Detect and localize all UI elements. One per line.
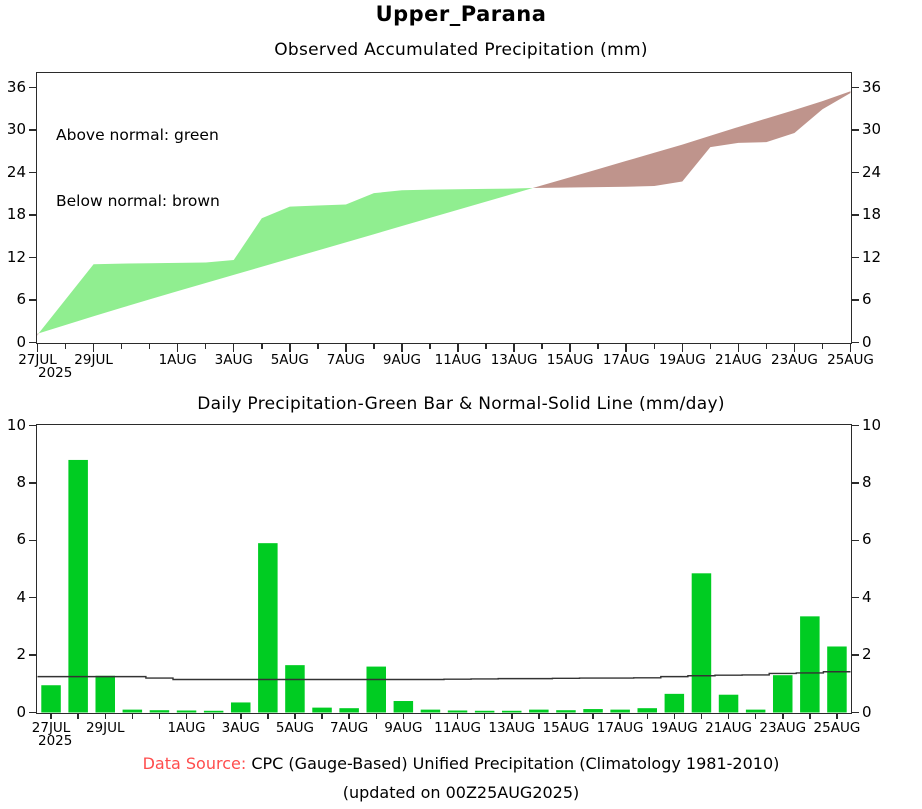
top-xtick-label: 17AUG (603, 352, 650, 368)
daily-precip-bar (827, 646, 847, 712)
below-normal-area (533, 91, 851, 188)
daily-precip-bar (394, 701, 414, 712)
bottom-ytick-label-right: 6 (862, 530, 872, 548)
top-xtick-label: 11AUG (435, 352, 482, 368)
top-xtick (401, 344, 403, 352)
top-xtick-label: 25AUG (827, 352, 874, 368)
bottom-xtick-label: 11AUG (434, 720, 481, 736)
top-ytick-label-right: 0 (862, 333, 872, 351)
top-xtick-label: 19AUG (659, 352, 706, 368)
top-ytick-label-left: 0 (0, 333, 26, 351)
bottom-xtick-label: 7AUG (330, 720, 368, 736)
bottom-xtick-label: 19AUG (651, 720, 698, 736)
top-chart-year-label: 2025 (38, 365, 72, 381)
bottom-xtick-label: 21AUG (705, 720, 752, 736)
top-ytick-label-left: 24 (0, 163, 26, 181)
top-xtick (457, 344, 459, 352)
top-xtick (569, 344, 571, 352)
top-xtick (794, 344, 796, 352)
top-ytick-right (852, 214, 859, 216)
bottom-ytick-label-left: 2 (0, 645, 26, 663)
top-ytick-label-right: 24 (862, 163, 881, 181)
bottom-xtick (105, 714, 107, 719)
bottom-xtick (403, 714, 405, 719)
daily-precip-bar (610, 710, 630, 713)
bottom-ytick-label-right: 0 (862, 703, 872, 721)
daily-precip-bar (339, 708, 359, 712)
bottom-xtick-label: 5AUG (276, 720, 314, 736)
top-chart-title: Observed Accumulated Precipitation (mm) (0, 40, 922, 60)
bottom-xtick (294, 714, 296, 719)
top-xtick-label: 3AUG (215, 352, 253, 368)
top-xtick (205, 344, 207, 349)
bottom-xtick-label: 1AUG (167, 720, 205, 736)
top-ytick-label-right: 30 (862, 120, 881, 138)
top-xtick (682, 344, 684, 352)
daily-precip-bar (692, 573, 712, 712)
daily-precip-bar (150, 710, 170, 712)
top-xtick (513, 344, 515, 352)
daily-precip-bar (529, 710, 549, 713)
top-ytick-left (29, 129, 36, 131)
bottom-ytick-label-left: 6 (0, 530, 26, 548)
daily-precip-bar (583, 709, 603, 712)
bottom-ytick-right (852, 540, 859, 542)
top-xtick (597, 344, 599, 349)
top-xtick-label: 23AUG (771, 352, 818, 368)
top-xtick (317, 344, 319, 349)
bottom-xtick (159, 714, 161, 719)
bottom-xtick (348, 714, 350, 719)
daily-precip-bar (746, 710, 766, 713)
daily-precip-bar (204, 711, 224, 713)
top-xtick (177, 344, 179, 352)
daily-precip-bar (258, 543, 278, 712)
daily-precip-bar (475, 711, 495, 713)
top-xtick-label: 7AUG (327, 352, 365, 368)
bottom-xtick-label: 17AUG (597, 720, 644, 736)
bottom-xtick (376, 714, 378, 719)
bottom-xtick (701, 714, 703, 719)
bottom-xtick (240, 714, 242, 719)
top-xtick (625, 344, 627, 352)
bottom-ytick-label-right: 8 (862, 473, 872, 491)
daily-precip-bar (448, 710, 468, 712)
bottom-ytick-left (29, 597, 36, 599)
bottom-xtick (511, 714, 513, 719)
bottom-xtick (132, 714, 134, 719)
bottom-xtick (619, 714, 621, 719)
bottom-xtick (538, 714, 540, 719)
top-xtick-label: 9AUG (383, 352, 421, 368)
top-xtick (738, 344, 740, 352)
top-xtick-label: 21AUG (715, 352, 762, 368)
bottom-ytick-right (852, 482, 859, 484)
bottom-ytick-right (852, 654, 859, 656)
daily-precip-bars-svg (36, 424, 852, 714)
top-xtick (766, 344, 768, 349)
daily-precip-bar (773, 675, 793, 712)
bottom-chart-year-label: 2025 (38, 733, 72, 749)
daily-precip-bar (123, 710, 143, 713)
top-ytick-right (852, 172, 859, 174)
normal-precip-line (38, 672, 851, 680)
data-source-label: Data Source: (143, 754, 247, 773)
top-ytick-left (29, 257, 36, 259)
bottom-ytick-left (29, 540, 36, 542)
bottom-xtick (755, 714, 757, 719)
daily-precip-bar (312, 708, 332, 713)
bottom-xtick (186, 714, 188, 719)
top-ytick-label-right: 12 (862, 248, 881, 266)
top-ytick-label-right: 6 (862, 290, 872, 308)
top-ytick-right (852, 87, 859, 89)
top-ytick-label-left: 36 (0, 78, 26, 96)
daily-precip-bar (41, 685, 61, 712)
top-ytick-left (29, 214, 36, 216)
bottom-xtick (647, 714, 649, 719)
bottom-ytick-label-right: 10 (862, 416, 881, 434)
top-xtick (850, 344, 852, 352)
top-xtick (822, 344, 824, 349)
top-ytick-label-right: 36 (862, 78, 881, 96)
bottom-ytick-left (29, 712, 36, 714)
daily-precip-bar (68, 460, 88, 713)
below-normal-area (38, 333, 39, 335)
bottom-xtick-label: 25AUG (814, 720, 861, 736)
top-xtick (233, 344, 235, 352)
bottom-xtick (457, 714, 459, 719)
daily-precip-bar (800, 616, 820, 712)
bottom-xtick (484, 714, 486, 719)
precipitation-report: Upper_Parana Observed Accumulated Precip… (0, 0, 922, 809)
top-ytick-right (852, 129, 859, 131)
top-xtick-label: 1AUG (159, 352, 197, 368)
bottom-ytick-right (852, 425, 859, 427)
page-title: Upper_Parana (0, 2, 922, 26)
bottom-xtick (50, 714, 52, 719)
data-source-text: CPC (Gauge-Based) Unified Precipitation … (251, 754, 779, 773)
top-ytick-label-left: 12 (0, 248, 26, 266)
bottom-xtick (267, 714, 269, 719)
data-source-line: Data Source: CPC (Gauge-Based) Unified P… (0, 754, 922, 773)
top-xtick (289, 344, 291, 352)
top-xtick-label: 29JUL (74, 352, 113, 368)
top-xtick (429, 344, 431, 349)
bottom-xtick (782, 714, 784, 719)
legend-line-below: Below normal: brown (56, 190, 220, 212)
top-ytick-left (29, 172, 36, 174)
daily-precip-bar (177, 710, 197, 712)
daily-precip-bar (719, 695, 739, 713)
bottom-xtick-label: 15AUG (543, 720, 590, 736)
bottom-xtick (809, 714, 811, 719)
top-xtick (373, 344, 375, 349)
daily-precip-bar (665, 694, 685, 713)
bottom-ytick-label-left: 0 (0, 703, 26, 721)
top-ytick-right (852, 299, 859, 301)
bottom-ytick-label-right: 2 (862, 645, 872, 663)
daily-precip-bar (556, 710, 576, 712)
bottom-ytick-label-right: 4 (862, 588, 872, 606)
bottom-ytick-label-left: 10 (0, 416, 26, 434)
top-xtick (121, 344, 123, 349)
top-xtick (485, 344, 487, 349)
bottom-ytick-label-left: 4 (0, 588, 26, 606)
bottom-xtick (321, 714, 323, 719)
top-xtick (149, 344, 151, 349)
top-xtick (345, 344, 347, 352)
bottom-xtick (674, 714, 676, 719)
bottom-xtick (77, 714, 79, 719)
daily-precip-bar (502, 711, 522, 713)
bottom-xtick-label: 3AUG (222, 720, 260, 736)
top-xtick-label: 15AUG (547, 352, 594, 368)
bottom-xtick-label: 9AUG (384, 720, 422, 736)
bottom-xtick (565, 714, 567, 719)
top-xtick (37, 344, 39, 352)
top-xtick (541, 344, 543, 349)
daily-precip-bar (231, 702, 251, 712)
daily-precip-bar (366, 667, 386, 713)
bottom-xtick (592, 714, 594, 719)
daily-precip-bar (285, 665, 305, 712)
bottom-xtick (836, 714, 838, 719)
top-ytick-right (852, 342, 859, 344)
top-ytick-label-right: 18 (862, 205, 881, 223)
top-xtick (710, 344, 712, 349)
top-xtick-label: 13AUG (491, 352, 538, 368)
top-xtick-label: 5AUG (271, 352, 309, 368)
top-ytick-left (29, 342, 36, 344)
bottom-xtick-label: 13AUG (488, 720, 535, 736)
top-ytick-right (852, 257, 859, 259)
bottom-ytick-right (852, 712, 859, 714)
bottom-xtick-label: 29JUL (86, 720, 125, 736)
bottom-ytick-right (852, 597, 859, 599)
top-ytick-label-left: 6 (0, 290, 26, 308)
top-xtick (93, 344, 95, 352)
top-xtick (654, 344, 656, 349)
top-ytick-label-left: 30 (0, 120, 26, 138)
daily-precip-bar (421, 710, 441, 713)
legend-line-above: Above normal: green (56, 124, 220, 146)
top-ytick-label-left: 18 (0, 205, 26, 223)
bottom-ytick-left (29, 482, 36, 484)
top-ytick-left (29, 87, 36, 89)
bottom-chart-title: Daily Precipitation-Green Bar & Normal-S… (0, 394, 922, 414)
top-xtick (261, 344, 263, 349)
daily-precip-bar (95, 676, 115, 713)
bottom-xtick (430, 714, 432, 719)
bottom-ytick-left (29, 425, 36, 427)
top-chart-legend: Above normal: green Below normal: brown (56, 80, 220, 256)
bottom-ytick-left (29, 654, 36, 656)
top-xtick (65, 344, 67, 349)
bottom-xtick-label: 23AUG (759, 720, 806, 736)
daily-precip-bar (637, 708, 657, 712)
bottom-xtick (213, 714, 215, 719)
top-ytick-left (29, 299, 36, 301)
bottom-ytick-label-left: 8 (0, 473, 26, 491)
updated-line: (updated on 00Z25AUG2025) (0, 783, 922, 802)
bottom-xtick (728, 714, 730, 719)
